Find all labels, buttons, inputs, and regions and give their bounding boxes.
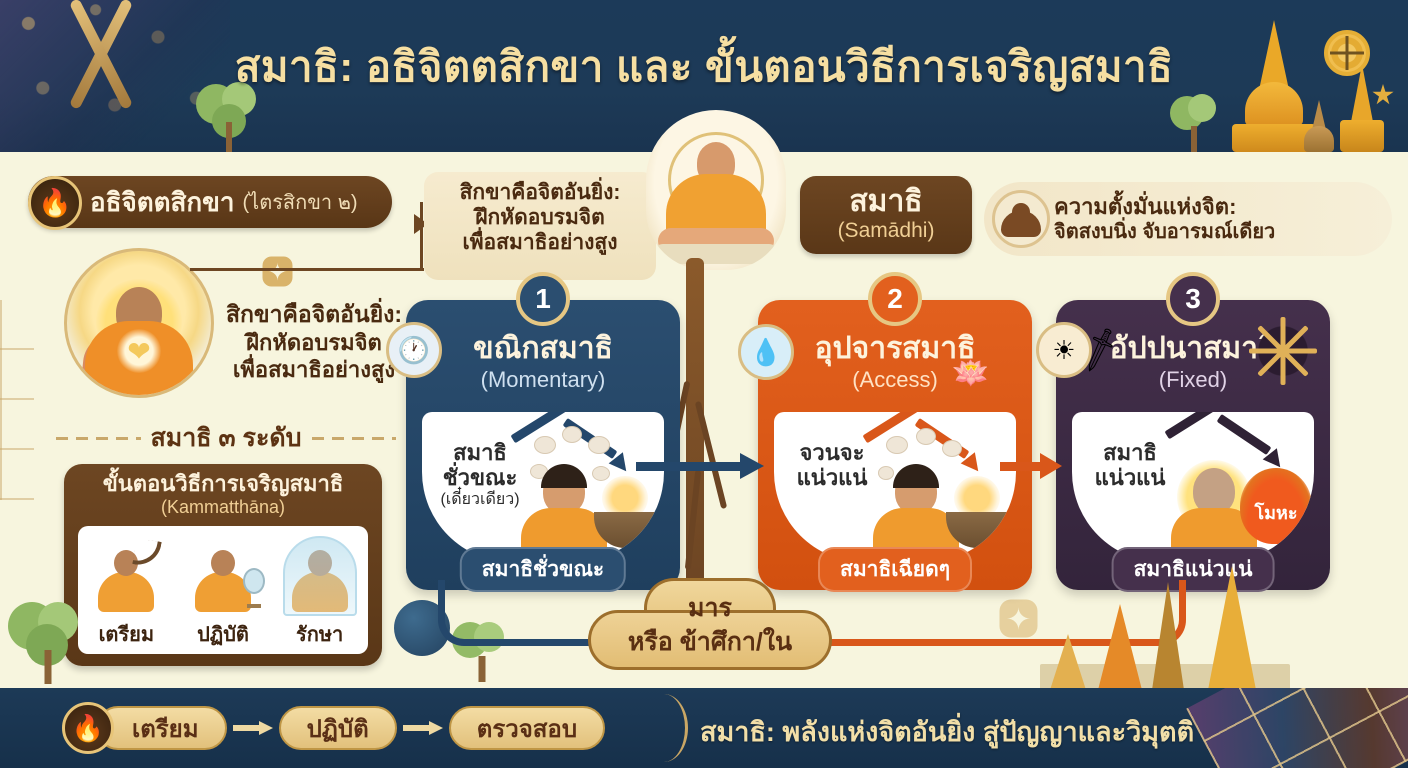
- level-number-badge: 2: [868, 272, 922, 326]
- footer-step-review[interactable]: ตรวจสอบ: [449, 706, 605, 750]
- footer-flow: 🔥 เตรียม ปฏิบัติ ตรวจสอบ: [62, 702, 605, 754]
- moha-label: โมหะ: [1254, 498, 1297, 527]
- moha-flame-icon: โมหะ: [1240, 468, 1312, 544]
- kammatthana-steps: เตรียม ปฏิบัติ รักษา: [78, 526, 368, 654]
- thought-bubble-icon: [562, 426, 582, 443]
- samadhi-thai-label: สมาธิ: [849, 187, 922, 217]
- sikkha-line-1: สิกขาคือจิตอันยิ่ง:: [434, 180, 646, 205]
- lotus-icon: 🪷: [952, 356, 989, 391]
- footer-bar: 🔥 เตรียม ปฏิบัติ ตรวจสอบ สมาธิ: พลังแห่ง…: [0, 688, 1408, 768]
- heart-icon: ❤: [117, 329, 161, 373]
- temple-silhouette-icon: [1040, 550, 1290, 690]
- level-illustration: จวนจะ แน่วแน่: [774, 412, 1016, 562]
- level-subtitle: (Access): [758, 367, 1032, 393]
- level-inner-label: สมาธิ ชั่วขณะ (เดี๋ยวเดียว): [432, 440, 528, 509]
- monk-mirror-icon: [179, 532, 267, 616]
- desc-line-1: สิกขาคือจิตอันยิ่ง:: [214, 300, 414, 329]
- kammatthana-step[interactable]: รักษา: [276, 532, 364, 650]
- footer-step-practice[interactable]: ปฏิบัติ: [279, 706, 397, 750]
- inner-label-main: สมาธิ: [432, 440, 528, 465]
- level-illustration: สมาธิ ชั่วขณะ (เดี๋ยวเดียว): [422, 412, 664, 562]
- infographic-canvas: สมาธิ: อธิจิตตสิกขา และ ขั้นตอนวิธีการเจ…: [0, 0, 1408, 768]
- arrow-right-icon: [233, 721, 273, 735]
- kammatthana-step-label: รักษา: [276, 618, 364, 650]
- footer-step-prepare[interactable]: เตรียม: [96, 706, 227, 750]
- kammatthana-subtitle: (Kammatthāna): [74, 497, 372, 518]
- samadhi-tag: สมาธิ (Samādhi): [800, 176, 972, 254]
- thai-pattern-decoration: [1186, 688, 1408, 768]
- flame-icon: 🔥: [28, 176, 82, 230]
- kammatthana-step[interactable]: ปฏิบัติ: [179, 532, 267, 650]
- flame-icon: 🔥: [62, 702, 114, 754]
- mara-callout: มาร หรือ ข้าศึกา/ใน: [588, 578, 832, 670]
- thought-bubble-icon: [916, 428, 936, 445]
- kammatthana-step[interactable]: เตรียม: [82, 532, 170, 650]
- desc-line-2: ฝึกหัดอบรมจิต: [214, 329, 414, 357]
- level-number-badge: 1: [516, 272, 570, 326]
- adhicitta-description: สิกขาคือจิตอันยิ่ง: ฝึกหัดอบรมจิต เพื่อส…: [214, 300, 414, 384]
- sikkha-line-3: เพื่อสมาธิอย่างสูง: [434, 230, 646, 255]
- samadhi-def-line-1: ความตั้งมั่นแห่งจิต:: [1054, 194, 1275, 220]
- samadhi-roman-label: (Samādhi): [838, 219, 935, 243]
- inner-label-main: จวนจะ: [784, 440, 880, 465]
- levels-divider-label: สมาธิ ๓ ระดับ: [151, 418, 302, 458]
- center-meditating-monk-illustration: [646, 110, 786, 270]
- chevron-right-icon: [648, 694, 688, 762]
- adhicitta-paren: (ไตรสิกขา ๒): [242, 186, 357, 218]
- desc-line-3: เพื่อสมาธิอย่างสูง: [214, 356, 414, 384]
- level-card-2[interactable]: 2 อุปจารสมาธิ (Access) จวนจะ แน่วแน่: [758, 300, 1032, 590]
- thought-bubble-icon: [942, 440, 962, 457]
- level-subtitle: (Momentary): [406, 367, 680, 393]
- inner-label-main2: แน่วแน่: [1082, 465, 1178, 490]
- thai-side-pattern: [0, 300, 34, 500]
- clock-icon: 🕐: [386, 322, 442, 378]
- footer-tagline: สมาธิ: พลังแห่งจิตอันยิ่ง สู่ปัญญาและวิม…: [700, 710, 1194, 753]
- sikkha-line-2: ฝึกหัดอบรมจิต: [434, 205, 646, 230]
- level-card-1[interactable]: 1 ขณิกสมาธิ (Momentary) สมาธิ ชั่วขณะ (เ…: [406, 300, 680, 590]
- inner-label-note: (เดี๋ยวเดียว): [432, 491, 528, 509]
- inner-label-main2: แน่วแน่: [784, 465, 880, 490]
- sikkha-callout: สิกขาคือจิตอันยิ่ง: ฝึกหัดอบรมจิต เพื่อส…: [424, 172, 656, 280]
- thought-bubble-icon: [588, 436, 610, 454]
- sun-icon: ☀: [1036, 322, 1092, 378]
- thought-bubble-icon: [534, 436, 556, 454]
- level-title: อุปจารสมาธิ: [758, 334, 1032, 364]
- levels-divider: สมาธิ ๓ ระดับ: [56, 418, 396, 458]
- connector-line: [190, 268, 424, 271]
- tree-icon: [8, 584, 88, 684]
- flow-arrow-1-to-2-icon: [636, 458, 764, 474]
- divider-dash: [312, 437, 397, 440]
- sunburst-icon: [1250, 318, 1316, 384]
- page-title: สมาธิ: อธิจิตตสิกขา และ ขั้นตอนวิธีการเจ…: [0, 34, 1408, 100]
- kammatthana-panel: ขั้นตอนวิธีการเจริญสมาธิ (Kammatthāna) เ…: [64, 464, 382, 666]
- kammatthana-step-label: ปฏิบัติ: [179, 618, 267, 650]
- connector-line: [420, 202, 423, 270]
- level-inner-label: สมาธิ แน่วแน่: [1082, 440, 1178, 491]
- mara-line-2: หรือ ข้าศึกา/ใน: [588, 622, 832, 662]
- level-title: ขณิกสมาธิ: [406, 334, 680, 364]
- monk-dome-icon: [276, 532, 364, 616]
- adhicitta-label: อธิจิตตสิกขา: [90, 182, 234, 223]
- level-number-badge: 3: [1166, 272, 1220, 326]
- divider-dash: [56, 437, 141, 440]
- inner-label-main2: ชั่วขณะ: [432, 465, 528, 490]
- arrow-right-icon: [403, 721, 443, 735]
- adhicitta-sikkha-tag: อธิจิตตสิกขา (ไตรสิกขา ๒): [28, 176, 392, 228]
- kammatthana-step-label: เตรียม: [82, 618, 170, 650]
- flow-arrow-2-to-3-icon: [1000, 458, 1062, 474]
- waterfall-icon: 💧: [738, 324, 794, 380]
- thought-bubble-icon: [886, 436, 908, 454]
- seated-buddha-icon: [992, 190, 1050, 248]
- inner-label-main: สมาธิ: [1082, 440, 1178, 465]
- kammatthana-title: ขั้นตอนวิธีการเจริญสมาธิ: [74, 472, 372, 496]
- kneeling-monk-icon: [82, 532, 170, 616]
- level-inner-label: จวนจะ แน่วแน่: [784, 440, 880, 491]
- samadhi-def-line-2: จิตสงบนิ่ง จับอารมณ์เดียว: [1054, 220, 1275, 244]
- level-illustration: สมาธิ แน่วแน่ โมหะ: [1072, 412, 1314, 562]
